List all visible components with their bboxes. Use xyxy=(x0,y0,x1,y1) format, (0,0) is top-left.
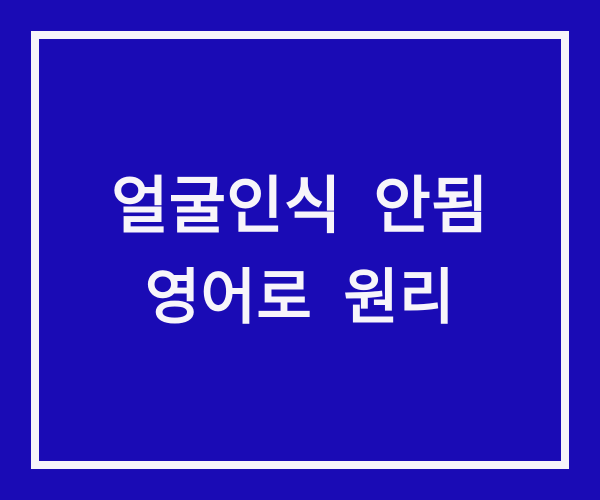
headline-block: 얼굴인식 안됨 영어로 원리 xyxy=(0,160,600,344)
headline-line-1: 얼굴인식 안됨 xyxy=(111,160,488,252)
headline-line-2: 영어로 원리 xyxy=(145,252,455,344)
poster-canvas: 얼굴인식 안됨 영어로 원리 xyxy=(0,0,600,500)
